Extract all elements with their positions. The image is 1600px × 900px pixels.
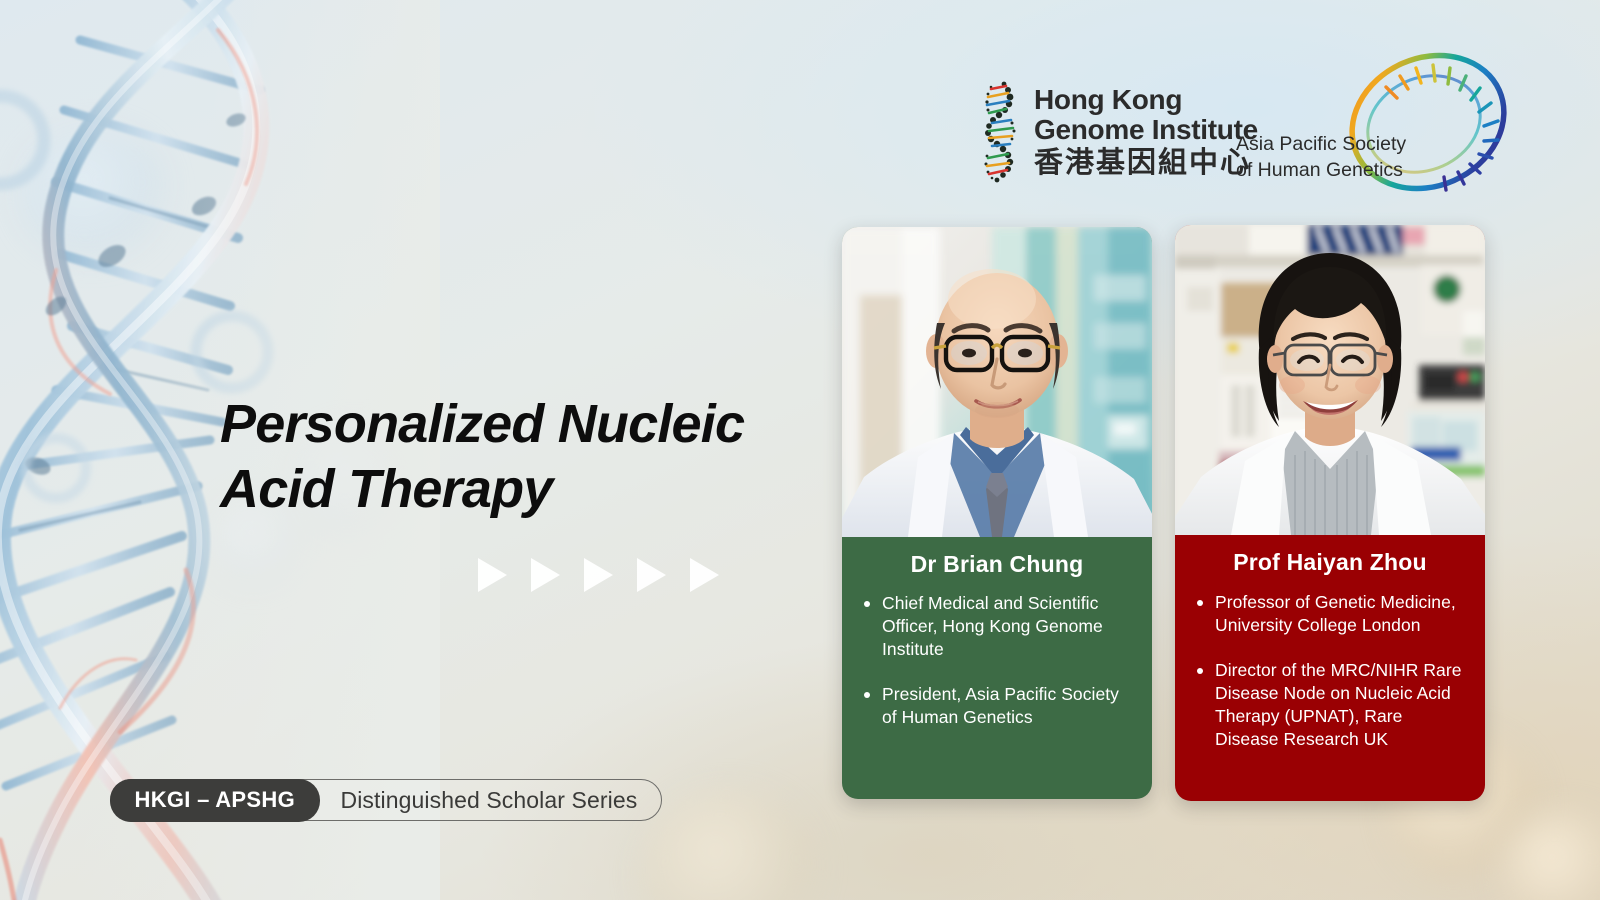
arrow-decorations <box>478 558 719 592</box>
speaker-card-chung: Dr Brian Chung Chief Medical and Scienti… <box>842 227 1152 799</box>
speaker-name: Dr Brian Chung <box>860 551 1134 578</box>
play-triangle-icon <box>637 558 666 592</box>
play-triangle-icon <box>478 558 507 592</box>
speaker-bullets: Professor of Genetic Medicine, Universit… <box>1193 591 1467 752</box>
apshg-logo: Asia Pacific Society of Human Genetics <box>1230 48 1520 198</box>
hkgi-logo-text: Hong Kong Genome Institute 香港基因組中心 <box>1034 85 1258 180</box>
list-item: President, Asia Pacific Society of Human… <box>860 683 1134 729</box>
speaker-name: Prof Haiyan Zhou <box>1193 549 1467 576</box>
logo-row: Hong Kong Genome Institute 香港基因組中心 <box>978 48 1518 198</box>
play-triangle-icon <box>531 558 560 592</box>
hkgi-name-chinese: 香港基因組中心 <box>1034 148 1258 179</box>
series-badge-subtitle: Distinguished Scholar Series <box>318 780 661 820</box>
speaker-card-zhou: Prof Haiyan Zhou Professor of Genetic Me… <box>1175 225 1485 801</box>
page-title: Personalized Nucleic Acid Therapy <box>220 392 820 522</box>
hkgi-name-line1: Hong Kong <box>1034 85 1258 115</box>
hkgi-name-line2: Genome Institute <box>1034 115 1258 145</box>
list-item: Chief Medical and Scientific Officer, Ho… <box>860 592 1134 661</box>
hkgi-logo: Hong Kong Genome Institute 香港基因組中心 <box>978 78 1258 186</box>
play-triangle-icon <box>584 558 613 592</box>
speaker-info-zhou: Prof Haiyan Zhou Professor of Genetic Me… <box>1175 535 1485 768</box>
speaker-photo-chung <box>842 227 1152 537</box>
speaker-bullets: Chief Medical and Scientific Officer, Ho… <box>860 592 1134 729</box>
list-item: Director of the MRC/NIHR Rare Disease No… <box>1193 659 1467 751</box>
apshg-logo-text: Asia Pacific Society of Human Genetics <box>1236 132 1406 183</box>
list-item: Professor of Genetic Medicine, Universit… <box>1193 591 1467 637</box>
poster-canvas: Hong Kong Genome Institute 香港基因組中心 <box>0 0 1600 900</box>
series-badge: HKGI – APSHG Distinguished Scholar Serie… <box>110 779 662 821</box>
speaker-photo-zhou <box>1175 225 1485 535</box>
dna-strand-icon <box>978 78 1022 186</box>
speaker-info-chung: Dr Brian Chung Chief Medical and Scienti… <box>842 537 1152 745</box>
play-triangle-icon <box>690 558 719 592</box>
series-badge-tag: HKGI – APSHG <box>110 779 320 822</box>
